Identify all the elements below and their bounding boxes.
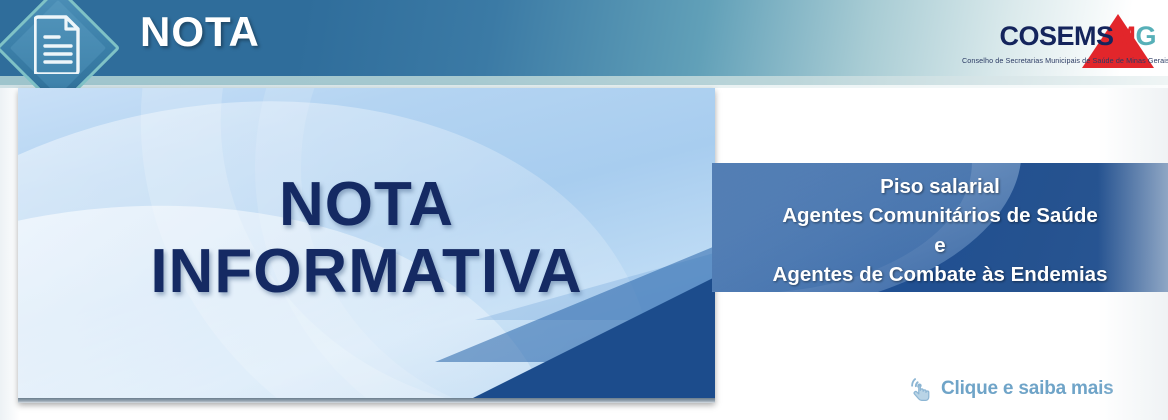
cosems-mg-logo: COSEMSMG Conselho de Secretarias Municip… [962,12,1162,70]
banner-line-2: Agentes Comunitários de Saúde [712,201,1168,230]
learn-more-label: Clique e saiba mais [941,378,1114,400]
banner-line-1: Piso salarial [712,172,1168,201]
banner-line-3: e [712,231,1168,260]
nota-informativa-banner: NOTA COSEMSMG Conselho de Secretarias Mu… [0,0,1168,420]
document-badge [6,0,110,100]
document-lines-icon [34,14,82,74]
hero-headline-line2: INFORMATIVA [18,239,715,306]
banner-text-block: Piso salarial Agentes Comunitários de Sa… [712,172,1168,289]
logo-cosems-text: COSEMS [999,21,1113,51]
hero-headline-line1: NOTA [18,172,715,239]
page-title: NOTA [140,11,260,53]
hero-base-shadow [18,398,715,403]
logo-g-text: G [1135,21,1156,51]
hero-headline: NOTA INFORMATIVA [18,172,715,306]
learn-more-link[interactable]: Clique e saiba mais [906,374,1114,404]
header-underline [0,76,1168,85]
banner-line-4: Agentes de Combate às Endemias [712,260,1168,289]
subject-banner[interactable]: Piso salarial Agentes Comunitários de Sa… [712,163,1168,292]
tap-hand-icon [906,374,936,404]
left-edge-fade [0,88,20,420]
logo-wordmark: COSEMSMG [962,23,1162,50]
logo-subtitle: Conselho de Secretarias Municipais de Sa… [962,56,1162,65]
logo-m-text: M [1113,21,1135,51]
hero-image[interactable]: NOTA INFORMATIVA [18,88,715,402]
